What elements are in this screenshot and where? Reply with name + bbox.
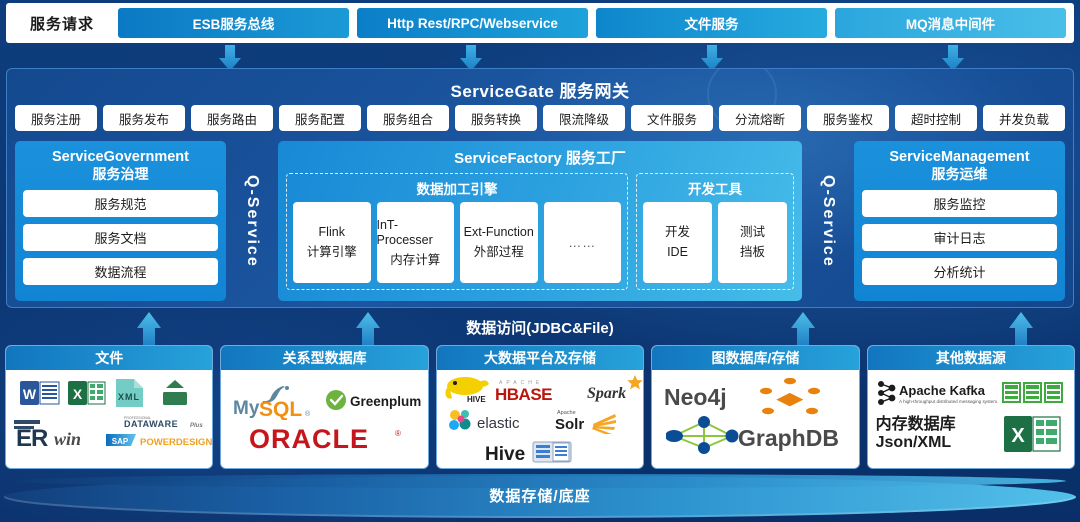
- svg-text:DATAWARE: DATAWARE: [124, 419, 178, 429]
- gateway-chip-fileservice[interactable]: 文件服务: [631, 105, 713, 131]
- hive-elephant-logo: HIVE: [443, 374, 491, 409]
- factory-title: ServiceFactory 服务工厂: [286, 147, 794, 168]
- tools-card-ide[interactable]: 开发 IDE: [643, 202, 712, 283]
- engine-card-ext-name: Ext-Function: [464, 225, 534, 240]
- tools-card-mock-name: 测试: [740, 225, 765, 240]
- svg-text:®: ®: [305, 410, 311, 418]
- svg-text:Hive: Hive: [485, 444, 525, 465]
- gateway-chip-auth[interactable]: 服务鉴权: [807, 105, 889, 131]
- engine-group-title: 数据加工引擎: [293, 178, 621, 198]
- svg-text:elastic: elastic: [477, 415, 520, 432]
- engine-card-flink[interactable]: Flink 计算引擎: [293, 202, 371, 283]
- source-column-bigdata-body: HIVE APACHE HBASE Spark: [437, 370, 643, 468]
- management-title: ServiceManagement 服务运维: [862, 149, 1057, 183]
- svg-text:Greenplum: Greenplum: [350, 394, 421, 409]
- source-column-relational-db-title: 关系型数据库: [221, 346, 427, 370]
- graphdb-logo: GraphDB: [738, 422, 848, 457]
- source-column-file-body: W X: [6, 370, 212, 468]
- source-column-other[interactable]: 其他数据源 Apache Kafka A high-through: [867, 345, 1075, 469]
- oracle-logo: ORACLE ®: [249, 422, 409, 459]
- gateway-chip-transform[interactable]: 服务转换: [455, 105, 537, 131]
- source-column-file-title: 文件: [6, 346, 212, 370]
- gateway-chip-compose[interactable]: 服务组合: [367, 105, 449, 131]
- xml-file-icon: XML: [114, 378, 146, 413]
- tools-card-ide-name: 开发: [665, 225, 690, 240]
- source-column-relational-db-body: My SQL ® Greenplum ORACLE ®: [221, 370, 427, 468]
- data-processing-engine-group: 数据加工引擎 Flink 计算引擎 InT-Processer 内存计算: [286, 173, 628, 290]
- json-xml-label: Json/XML: [876, 434, 952, 452]
- governance-title-cn: 服务治理: [23, 166, 218, 183]
- svg-text:W: W: [23, 386, 37, 402]
- management-item-auditlog[interactable]: 审计日志: [862, 224, 1057, 251]
- sap-powerdesigner-logo: SAP POWERDESIGNER: [106, 432, 213, 455]
- foundation-label: 数据存储/底座: [0, 485, 1080, 506]
- service-request-button-esb[interactable]: ESB服务总线: [118, 8, 349, 38]
- service-platform-panel: ServiceGate 服务网关 服务注册 服务发布 服务路由 服务配置 服务组…: [6, 68, 1074, 308]
- green-table-icon: [1002, 382, 1064, 409]
- governance-title: ServiceGovernment 服务治理: [23, 149, 218, 183]
- svg-text:ER: ER: [16, 425, 48, 448]
- engine-card-more-label: ……: [568, 235, 596, 250]
- neo4j-graph-icon: [666, 414, 742, 463]
- source-column-bigdata-title: 大数据平台及存储: [437, 346, 643, 370]
- source-column-file[interactable]: 文件 W X: [5, 345, 213, 469]
- service-governance-panel: ServiceGovernment 服务治理 服务规范 服务文档 数据流程: [15, 141, 226, 301]
- gateway-capability-row: 服务注册 服务发布 服务路由 服务配置 服务组合 服务转换 限流降级 文件服务 …: [15, 105, 1065, 131]
- svg-text:Spark: Spark: [587, 385, 626, 402]
- svg-text:POWERDESIGNER: POWERDESIGNER: [140, 437, 213, 448]
- tools-card-mock-desc: 挡板: [740, 245, 765, 260]
- source-column-graph-db-body: Neo4j: [652, 370, 858, 468]
- service-request-button-file[interactable]: 文件服务: [596, 8, 827, 38]
- svg-text:Neo4j: Neo4j: [664, 384, 727, 410]
- gateway-chip-circuitbreak[interactable]: 分流熔断: [719, 105, 801, 131]
- svg-text:X: X: [1011, 425, 1025, 447]
- gateway-chip-ratelimit[interactable]: 限流降级: [543, 105, 625, 131]
- engine-card-ext-function[interactable]: Ext-Function 外部过程: [460, 202, 538, 283]
- flow-arrows-down: [0, 43, 1080, 71]
- governance-item-dataflow[interactable]: 数据流程: [23, 258, 218, 285]
- greenplum-logo: Greenplum: [325, 387, 428, 418]
- mysql-logo: My SQL ®: [231, 384, 321, 425]
- tools-card-mock[interactable]: 测试 挡板: [718, 202, 787, 283]
- foundation-platform: 数据存储/底座: [0, 472, 1080, 522]
- svg-text:A high-throughput distributed: A high-throughput distributed messaging …: [899, 399, 998, 404]
- source-column-graph-db[interactable]: 图数据库/存储 Neo4j: [651, 345, 859, 469]
- source-column-graph-db-title: 图数据库/存储: [652, 346, 858, 370]
- svg-text:win: win: [54, 429, 81, 448]
- management-title-en: ServiceManagement: [889, 149, 1029, 165]
- svg-text:SQL: SQL: [259, 398, 302, 420]
- governance-item-docs[interactable]: 服务文档: [23, 224, 218, 251]
- data-access-label: 数据访问(JDBC&File): [0, 312, 1080, 342]
- svg-text:X: X: [73, 386, 83, 402]
- excel-icon: X: [1004, 414, 1062, 459]
- source-column-other-body: Apache Kafka A high-throughput distribut…: [868, 370, 1074, 468]
- service-request-label: 服务请求: [14, 13, 110, 34]
- elastic-logo: elastic: [447, 408, 551, 439]
- svg-text:Plus: Plus: [190, 423, 203, 429]
- diagram-canvas: 服务请求 ESB服务总线 Http Rest/RPC/Webservice 文件…: [0, 0, 1080, 522]
- dev-tools-group: 开发工具 开发 IDE 测试 挡板: [636, 173, 794, 290]
- service-request-bar: 服务请求 ESB服务总线 Http Rest/RPC/Webservice 文件…: [6, 3, 1074, 43]
- service-request-button-mq[interactable]: MQ消息中间件: [835, 8, 1066, 38]
- source-column-other-title: 其他数据源: [868, 346, 1074, 370]
- kafka-logo: Apache Kafka A high-throughput distribut…: [876, 380, 1000, 411]
- gateway-chip-register[interactable]: 服务注册: [15, 105, 97, 131]
- source-column-bigdata[interactable]: 大数据平台及存储 HIVE APACHE HBASE: [436, 345, 644, 469]
- tools-card-ide-desc: IDE: [667, 245, 688, 260]
- gateway-chip-timeout[interactable]: 超时控制: [895, 105, 977, 131]
- svg-text:®: ®: [395, 429, 401, 438]
- hive-logo: Hive: [485, 438, 595, 469]
- q-service-label-right: Q-Service: [802, 141, 854, 301]
- memory-db-label: 内存数据库: [876, 410, 956, 434]
- neo4j-logo: Neo4j: [664, 382, 752, 415]
- servicegate-title: ServiceGate 服务网关: [7, 77, 1073, 102]
- engine-card-ext-desc: 外部过程: [474, 245, 524, 260]
- source-column-relational-db[interactable]: 关系型数据库 My SQL ® Greenplum: [220, 345, 428, 469]
- word-icon: W: [20, 380, 60, 411]
- engine-card-int-desc: 内存计算: [390, 253, 440, 268]
- engine-card-flink-desc: 计算引擎: [307, 245, 357, 260]
- service-management-panel: ServiceManagement 服务运维 服务监控 审计日志 分析统计: [854, 141, 1065, 301]
- platform-columns: ServiceGovernment 服务治理 服务规范 服务文档 数据流程 Q-…: [15, 141, 1065, 301]
- engine-card-int-processer[interactable]: InT-Processer 内存计算: [377, 202, 455, 283]
- management-item-monitor[interactable]: 服务监控: [862, 190, 1057, 217]
- management-title-cn: 服务运维: [862, 166, 1057, 183]
- spark-logo: Spark: [587, 374, 644, 407]
- gateway-chip-route[interactable]: 服务路由: [191, 105, 273, 131]
- data-source-columns: 文件 W X: [5, 345, 1075, 469]
- hbase-logo: APACHE HBASE: [495, 376, 583, 407]
- svg-text:SAP: SAP: [112, 437, 129, 446]
- svg-text:GraphDB: GraphDB: [738, 425, 839, 451]
- graphdb-node-icon: [752, 378, 828, 427]
- governance-item-spec[interactable]: 服务规范: [23, 190, 218, 217]
- q-service-label-left: Q-Service: [226, 141, 278, 301]
- svg-text:Apache Kafka: Apache Kafka: [899, 383, 986, 398]
- solr-logo: Apache Solr: [555, 406, 644, 439]
- service-factory-panel: ServiceFactory 服务工厂 数据加工引擎 Flink 计算引擎 In…: [278, 141, 802, 301]
- erwin-logo: ER win: [14, 414, 106, 453]
- gateway-chip-concurrency[interactable]: 并发负载: [983, 105, 1065, 131]
- management-item-analytics[interactable]: 分析统计: [862, 258, 1057, 285]
- dev-tools-title: 开发工具: [643, 178, 787, 198]
- excel-icon: X: [68, 380, 106, 411]
- engine-card-more[interactable]: ……: [544, 202, 622, 283]
- gateway-chip-config[interactable]: 服务配置: [279, 105, 361, 131]
- service-request-button-http[interactable]: Http Rest/RPC/Webservice: [357, 8, 588, 38]
- svg-text:HBASE: HBASE: [495, 385, 552, 402]
- governance-title-en: ServiceGovernment: [52, 149, 189, 165]
- svg-text:Solr: Solr: [555, 416, 584, 433]
- upload-icon: [158, 379, 192, 412]
- gateway-chip-publish[interactable]: 服务发布: [103, 105, 185, 131]
- svg-text:ORACLE: ORACLE: [249, 424, 369, 454]
- svg-text:My: My: [233, 398, 260, 419]
- engine-card-int-name: InT-Processer: [377, 218, 455, 248]
- svg-text:XML: XML: [118, 392, 140, 402]
- svg-text:HIVE: HIVE: [467, 395, 486, 404]
- engine-card-flink-name: Flink: [319, 225, 345, 240]
